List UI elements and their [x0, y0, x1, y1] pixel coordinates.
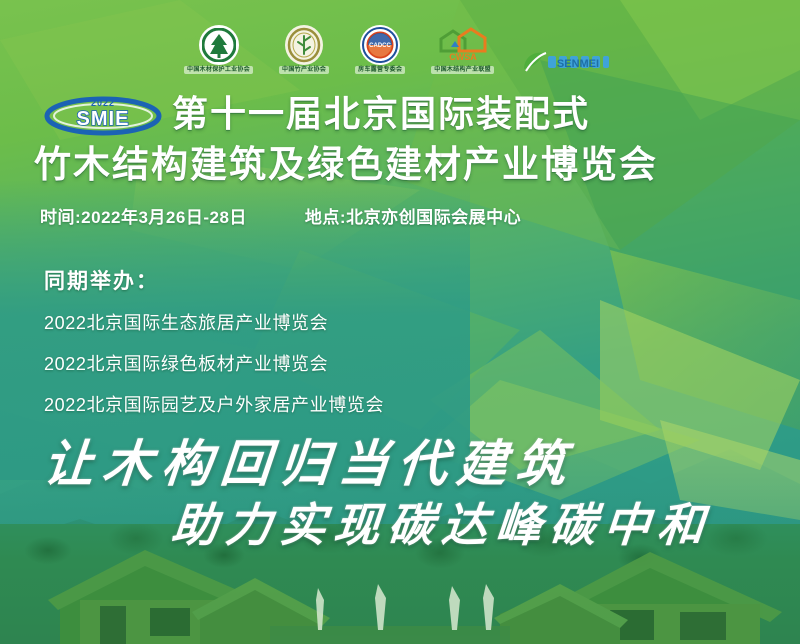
slogan-line1: 让木构回归当代建筑 [41, 424, 578, 496]
smie-year-text: 2022 [91, 98, 115, 108]
logo-caption: 房车露营专委会 [355, 66, 405, 74]
logo-bamboo-association[interactable]: 中国竹产业协会 [279, 12, 329, 74]
cwsa-acronym: CWSA [449, 52, 477, 62]
logo-caption: 中国木结构产业联盟 [431, 66, 494, 74]
logo-senmei[interactable]: SENMEI [520, 12, 616, 74]
cadcc-seal-icon: CADCC [360, 25, 400, 65]
smie-logo[interactable]: 2022 SMIE [44, 92, 162, 136]
page-title-line1: 第十一届北京国际装配式 [172, 96, 590, 132]
concurrent-heading: 同期举办： [44, 265, 564, 295]
bamboo-seal-icon [285, 25, 323, 65]
event-venue: 地点:北京亦创国际会展中心 [305, 203, 521, 228]
senmei-acronym: SENMEI [557, 58, 599, 70]
svg-text:CADCC: CADCC [369, 43, 391, 49]
list-item: 2022北京国际绿色板材产业博览会 [44, 350, 564, 376]
concurrent-events: 同期举办： 2022北京国际生态旅居产业博览会 2022北京国际绿色板材产业博览… [44, 265, 564, 432]
logo-cwsa[interactable]: CWSA 中国木结构产业联盟 [431, 12, 494, 74]
event-meta: 时间:2022年3月26日-28日 地点:北京亦创国际会展中心 [40, 203, 760, 228]
event-date: 时间:2022年3月26日-28日 [40, 203, 247, 228]
leaf-icon: SENMEI [520, 48, 616, 74]
list-item: 2022北京国际生态旅居产业博览会 [44, 309, 564, 335]
concurrent-event-list: 2022北京国际生态旅居产业博览会 2022北京国际绿色板材产业博览会 2022… [44, 309, 564, 417]
house-icon: CWSA [436, 25, 490, 65]
logo-caption: 中国竹产业协会 [279, 66, 329, 74]
smie-acronym-text: SMIE [77, 108, 130, 130]
exhibition-poster: 中国木材保护工业协会 中国竹产业协会 CADCC [0, 0, 800, 644]
logo-china-wood-protection[interactable]: 中国木材保护工业协会 [184, 12, 253, 74]
page-title-line2: 竹木结构建筑及绿色建材产业博览会 [0, 146, 800, 185]
tree-seal-icon [199, 25, 239, 65]
logo-cadcc[interactable]: CADCC 房车露营专委会 [355, 12, 405, 74]
slogan-line2: 助力实现碳达峰碳中和 [169, 489, 715, 555]
title-block: 2022 SMIE 第十一届北京国际装配式 竹木结构建筑及绿色建材产业博览会 [0, 88, 800, 185]
list-item: 2022北京国际园艺及户外家居产业博览会 [44, 391, 564, 417]
logo-caption: 中国木材保护工业协会 [184, 66, 253, 74]
sponsor-logo-row: 中国木材保护工业协会 中国竹产业协会 CADCC [0, 8, 800, 78]
